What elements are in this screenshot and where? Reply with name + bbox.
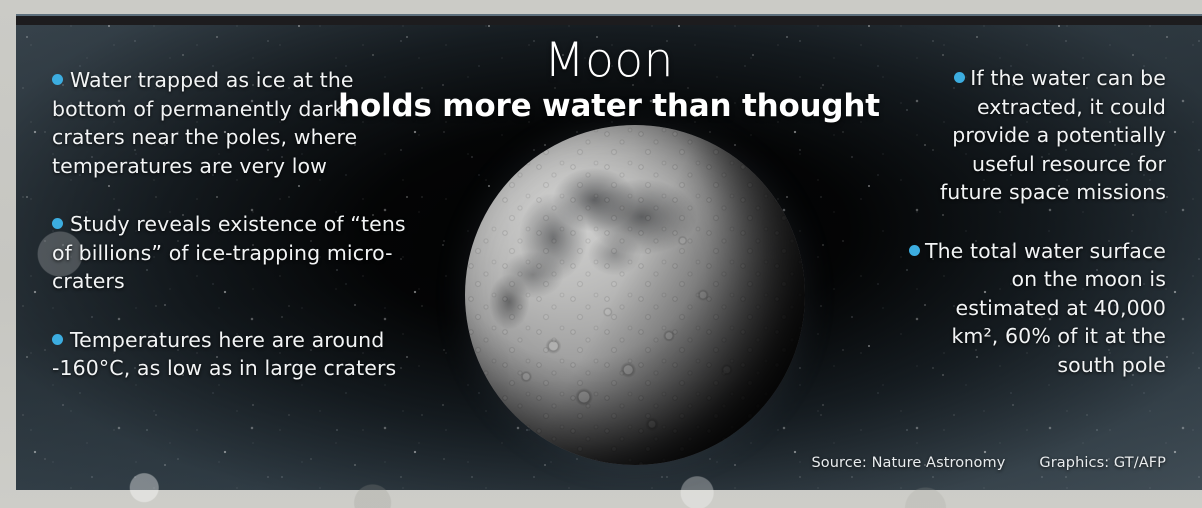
panel-top-hairline (16, 14, 1202, 16)
fact-text: The total water surface on the moon is e… (925, 239, 1166, 377)
bullet-dot-icon (52, 334, 63, 345)
moon-disc (465, 125, 805, 465)
fact-bullet: Temperatures here are around -160°C, as … (52, 326, 422, 383)
fact-text: Study reveals existence of “tens of bill… (52, 212, 406, 293)
fact-bullet: Study reveals existence of “tens of bill… (52, 210, 422, 296)
infographic-panel: Moon holds more water than thought Water… (16, 14, 1202, 490)
headline: Moon holds more water than thought (16, 36, 1202, 125)
page-title: Moon (16, 36, 1202, 86)
source-label: Source: Nature Astronomy (811, 454, 1005, 472)
fact-bullet: The total water surface on the moon is e… (906, 237, 1166, 380)
credits: Source: Nature Astronomy Graphics: GT/AF… (811, 454, 1166, 472)
page-subtitle: holds more water than thought (16, 87, 1202, 125)
bullet-dot-icon (52, 218, 63, 229)
bullet-dot-icon (909, 245, 920, 256)
graphics-credit-label: Graphics: GT/AFP (1039, 454, 1166, 472)
moon-illustration (465, 125, 805, 465)
fact-text: Temperatures here are around -160°C, as … (52, 328, 396, 381)
moon-terminator-shadow (465, 125, 805, 465)
infographic-page: Moon holds more water than thought Water… (0, 0, 1202, 508)
